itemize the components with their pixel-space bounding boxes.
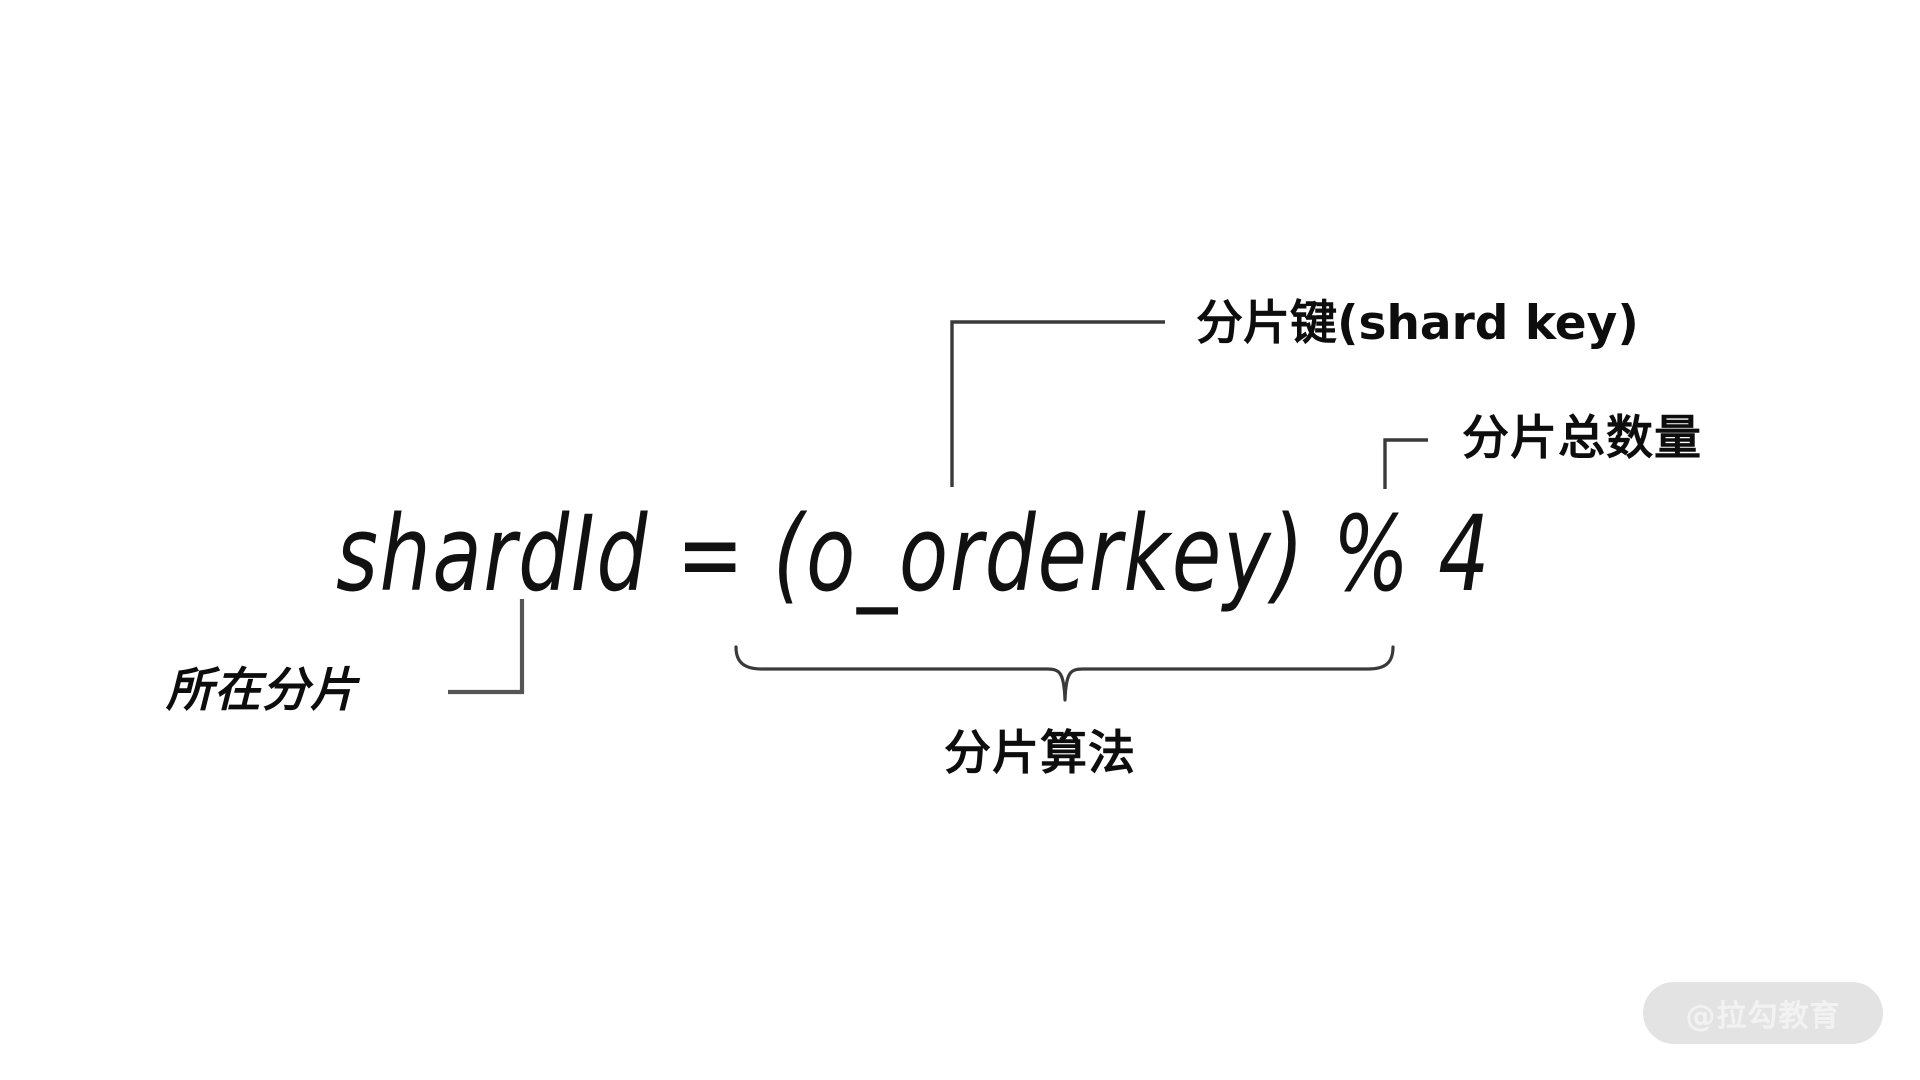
watermark-pill: @拉勾教育 (1643, 982, 1883, 1044)
shard-formula: shardId = (o_orderkey) % 4 (336, 500, 1491, 609)
diagram-canvas: shardId = (o_orderkey) % 4 分片键(shard key… (0, 0, 1920, 1080)
annotation-label-shard-total: 分片总数量 (1462, 415, 1702, 462)
shard-total-leader-line (1385, 440, 1428, 489)
shard-algorithm-brace (736, 647, 1393, 700)
annotation-label-shard-algorithm: 分片算法 (944, 730, 1136, 777)
shard-key-leader-line (952, 322, 1165, 487)
annotation-label-shard-key: 分片键(shard key) (1196, 300, 1639, 347)
watermark-text: @拉勾教育 (1643, 982, 1883, 1044)
annotation-label-shard-location: 所在分片 (166, 667, 358, 714)
